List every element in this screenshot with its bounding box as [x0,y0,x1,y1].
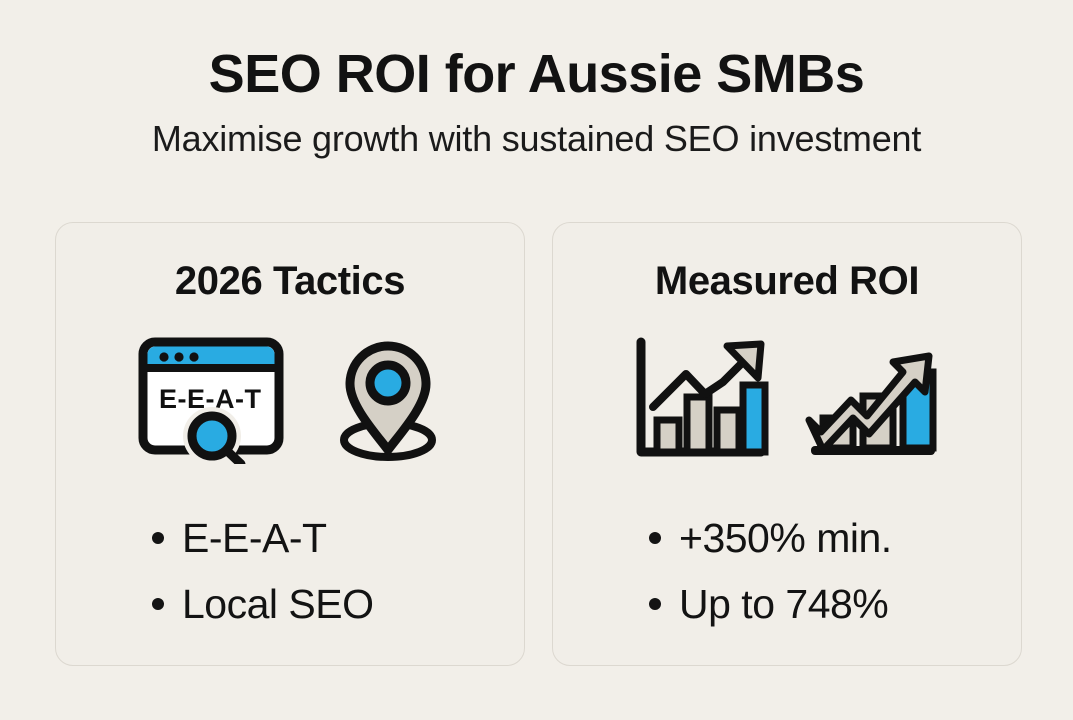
list-item: Local SEO [152,571,524,637]
card-row: 2026 Tactics E-E-A-T [55,222,1022,666]
card-tactics-bullets: E-E-A-T Local SEO [56,505,524,637]
list-item: +350% min. [649,505,1021,571]
map-pin-icon [333,336,443,464]
bar-chart-growth-icon [631,334,771,466]
card-tactics-title: 2026 Tactics [175,259,405,304]
list-item: Up to 748% [649,571,1021,637]
page-title: SEO ROI for Aussie SMBs [0,44,1073,104]
page-subtitle: Maximise growth with sustained SEO inves… [0,118,1073,159]
card-roi-bullets: +350% min. Up to 748% [553,505,1021,637]
bullet-dot-icon [152,532,164,544]
bullet-label: +350% min. [679,518,892,559]
bullet-dot-icon [152,598,164,610]
list-item: E-E-A-T [152,505,524,571]
card-tactics: 2026 Tactics E-E-A-T [55,222,525,666]
card-tactics-icon-row: E-E-A-T [137,332,443,467]
browser-eeat-icon: E-E-A-T [137,336,285,464]
bullet-dot-icon [649,532,661,544]
bullet-label: Local SEO [182,584,374,625]
slide-root: SEO ROI for Aussie SMBs Maximise growth … [0,0,1073,720]
card-roi-title: Measured ROI [655,259,919,304]
bar-chart-arrow-icon [803,334,943,466]
bullet-dot-icon [649,598,661,610]
card-roi: Measured ROI [552,222,1022,666]
header: SEO ROI for Aussie SMBs Maximise growth … [0,44,1073,160]
bullet-label: E-E-A-T [182,518,327,559]
bullet-label: Up to 748% [679,584,888,625]
card-roi-icon-row [631,332,943,467]
